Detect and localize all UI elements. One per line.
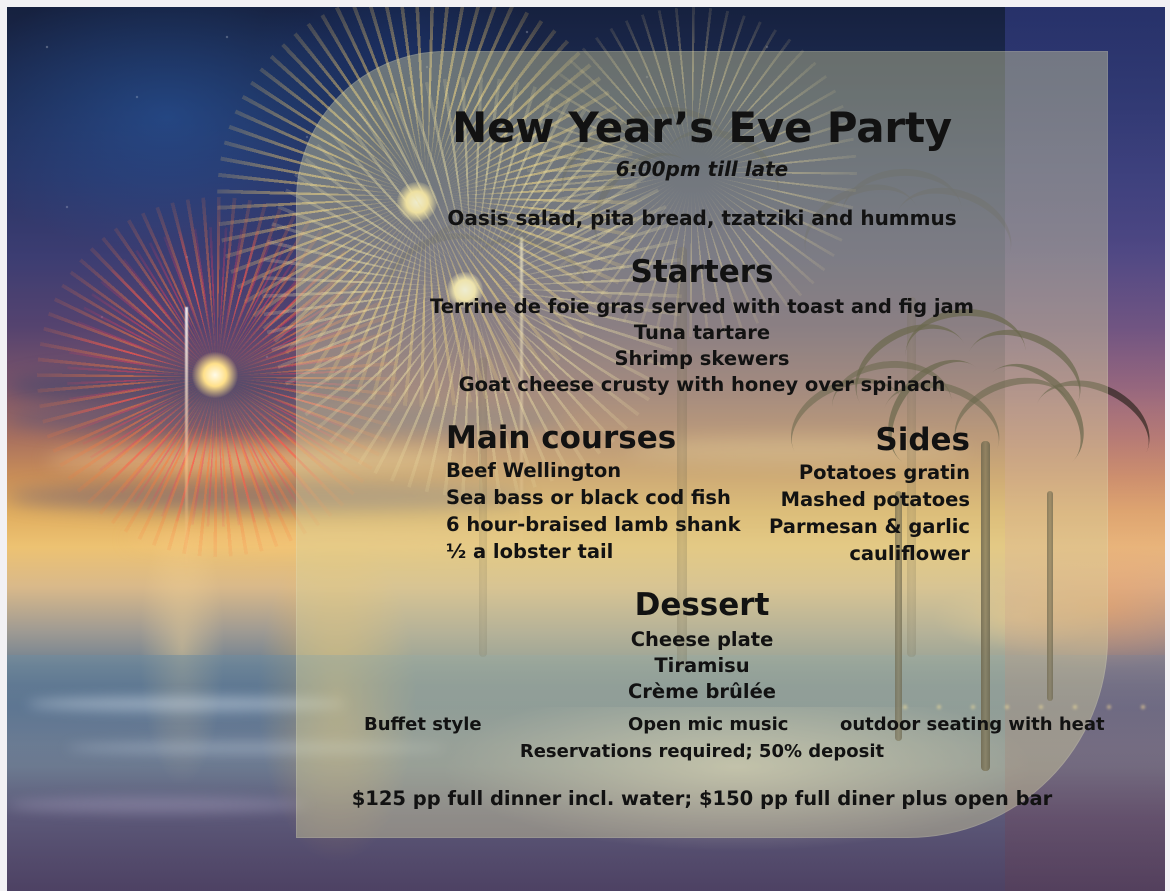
menu-item: Tiramisu	[296, 653, 1108, 679]
footer-pricing: $125 pp full dinner incl. water; $150 pp…	[296, 787, 1108, 810]
event-time: 6:00pm till late	[296, 157, 1108, 181]
menu-item: Goat cheese crusty with honey over spina…	[296, 372, 1108, 398]
section-heading-dessert: Dessert	[296, 587, 1108, 623]
firework-core	[192, 352, 238, 398]
section-items-starters: Terrine de foie gras served with toast a…	[296, 294, 1108, 398]
firework-trail	[185, 307, 188, 577]
menu-content: New Year’s Eve Party 6:00pm till late Oa…	[296, 51, 1108, 838]
page-title: New Year’s Eve Party	[296, 103, 1108, 152]
menu-item: Potatoes gratin	[670, 459, 970, 486]
footer-open-mic: Open mic music	[628, 714, 788, 735]
welcome-course: Oasis salad, pita bread, tzatziki and hu…	[296, 206, 1108, 230]
menu-item: Tuna tartare	[296, 320, 1108, 346]
footer-outdoor-seating: outdoor seating with heat	[840, 714, 1105, 735]
menu-item: Crème brûlée	[296, 679, 1108, 705]
poster-canvas: New Year’s Eve Party 6:00pm till late Oa…	[0, 0, 1170, 891]
section-sides: Sides Potatoes gratin Mashed potatoes Pa…	[670, 421, 970, 567]
section-heading-starters: Starters	[296, 254, 1108, 290]
menu-item: Shrimp skewers	[296, 346, 1108, 372]
wave-line	[7, 797, 307, 813]
footer-reservations: Reservations required; 50% deposit	[296, 741, 1108, 762]
footer-buffet-style: Buffet style	[364, 714, 482, 735]
menu-item: cauliflower	[670, 540, 970, 567]
section-items-dessert: Cheese plate Tiramisu Crème brûlée	[296, 627, 1108, 705]
menu-item: Cheese plate	[296, 627, 1108, 653]
menu-item: Mashed potatoes	[670, 486, 970, 513]
section-heading-sides: Sides	[670, 421, 970, 459]
menu-item: Terrine de foie gras served with toast a…	[296, 294, 1108, 320]
menu-item: Parmesan & garlic	[670, 513, 970, 540]
footer-feature-row: Buffet style Open mic music outdoor seat…	[296, 714, 1108, 742]
